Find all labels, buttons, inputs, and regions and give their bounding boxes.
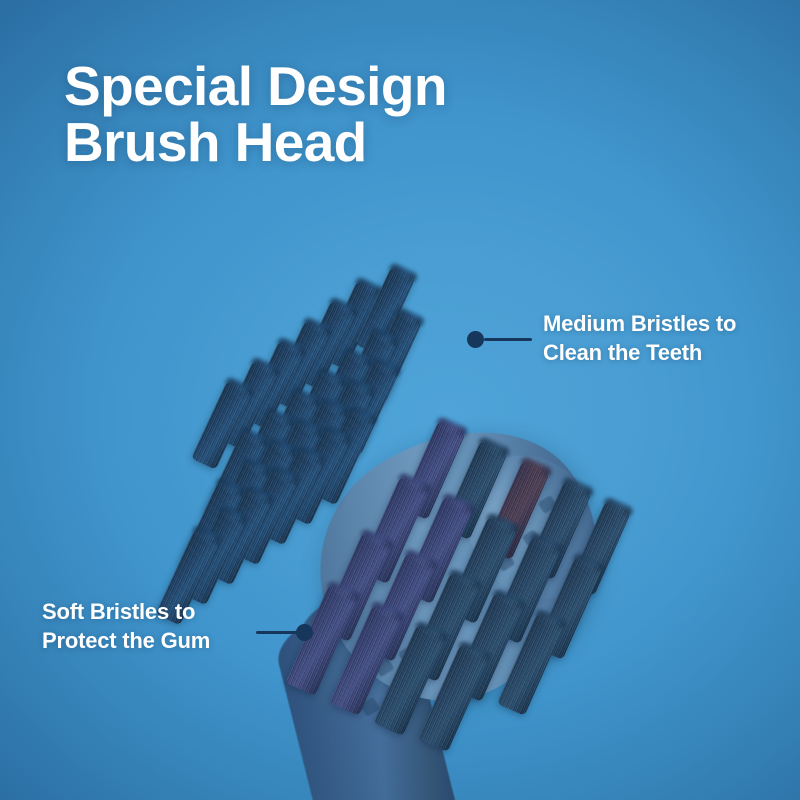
bristle-tuft xyxy=(358,476,430,584)
bristle-tuft xyxy=(308,351,371,444)
tuft-hole xyxy=(496,553,516,572)
bristle-tuft xyxy=(452,592,524,702)
product-feature-image: Special Design Brush Head Medium Bristle… xyxy=(0,0,800,800)
tuft-hole xyxy=(385,683,406,703)
bristle-tuft xyxy=(285,584,358,696)
bristle-tuft xyxy=(535,556,603,660)
bristle-tuft xyxy=(207,489,271,586)
tuft-hole xyxy=(460,597,478,615)
bristle-tuft xyxy=(285,429,349,526)
bristle-tuft xyxy=(295,300,356,389)
tuft-hole xyxy=(398,645,418,664)
tuft-hole xyxy=(373,657,394,677)
bristle-tuft xyxy=(484,460,550,560)
bristle-tuft xyxy=(259,449,323,546)
bristle-tuft xyxy=(334,331,397,424)
bristle-tuft xyxy=(418,644,490,752)
bristle-tuft xyxy=(191,380,252,469)
bristle-tuft xyxy=(373,624,446,736)
bristle-tuft xyxy=(446,516,518,624)
bristle-tuft xyxy=(256,391,319,484)
bristle-tuft xyxy=(230,411,293,504)
bristle-tuft xyxy=(408,572,480,682)
bristle-tuft xyxy=(284,401,347,496)
bristle-tuft xyxy=(258,421,321,516)
bristle-tuft xyxy=(310,381,373,476)
bristle-tuft xyxy=(232,441,295,536)
bristle-tuft xyxy=(497,612,565,716)
toothbrush-neck xyxy=(287,583,421,719)
callout-soft-label: Soft Bristles to Protect the Gum xyxy=(42,597,210,655)
bristle-tuft xyxy=(320,532,392,642)
brush-head-plate xyxy=(272,379,647,745)
bristle-tuft xyxy=(364,552,436,662)
bristle-tuft xyxy=(442,440,508,540)
callout-medium-line xyxy=(484,338,532,341)
medium-bristle-group xyxy=(186,258,546,558)
bristle-tuft xyxy=(526,480,592,580)
tuft-hole xyxy=(522,529,540,547)
soft-bristle-group xyxy=(300,400,630,730)
brush-head-highlight xyxy=(439,430,626,624)
tuft-hole xyxy=(538,495,558,514)
bristle-tuft xyxy=(402,496,474,604)
tuft-hole xyxy=(359,697,380,717)
bristle-tuft xyxy=(269,320,330,409)
bristle-tuft xyxy=(206,461,269,556)
bristle-tuft xyxy=(181,509,245,606)
bristle-tuft xyxy=(355,266,416,355)
bristle-tuft xyxy=(569,500,632,595)
bristle-tuft xyxy=(180,481,243,576)
bristle-tuft xyxy=(336,361,399,456)
bristle-tuft xyxy=(490,536,562,644)
callout-soft-line xyxy=(256,631,304,634)
bristle-tuft xyxy=(400,420,466,520)
page-title: Special Design Brush Head xyxy=(64,58,447,170)
bristle-tuft xyxy=(321,280,382,369)
bristle-tuft xyxy=(282,371,345,464)
callout-medium-label: Medium Bristles to Clean the Teeth xyxy=(543,309,736,367)
bristle-tuft xyxy=(360,311,423,404)
bristle-tuft xyxy=(311,409,375,506)
bristle-tuft xyxy=(204,431,267,524)
tuft-hole xyxy=(349,673,370,693)
bristle-tuft xyxy=(217,360,278,449)
bristle-tuft xyxy=(243,340,304,429)
bristle-tuft xyxy=(233,469,297,566)
bristle-tuft xyxy=(329,604,402,716)
tuft-hole xyxy=(513,475,534,495)
callout-medium-dot xyxy=(467,331,484,348)
